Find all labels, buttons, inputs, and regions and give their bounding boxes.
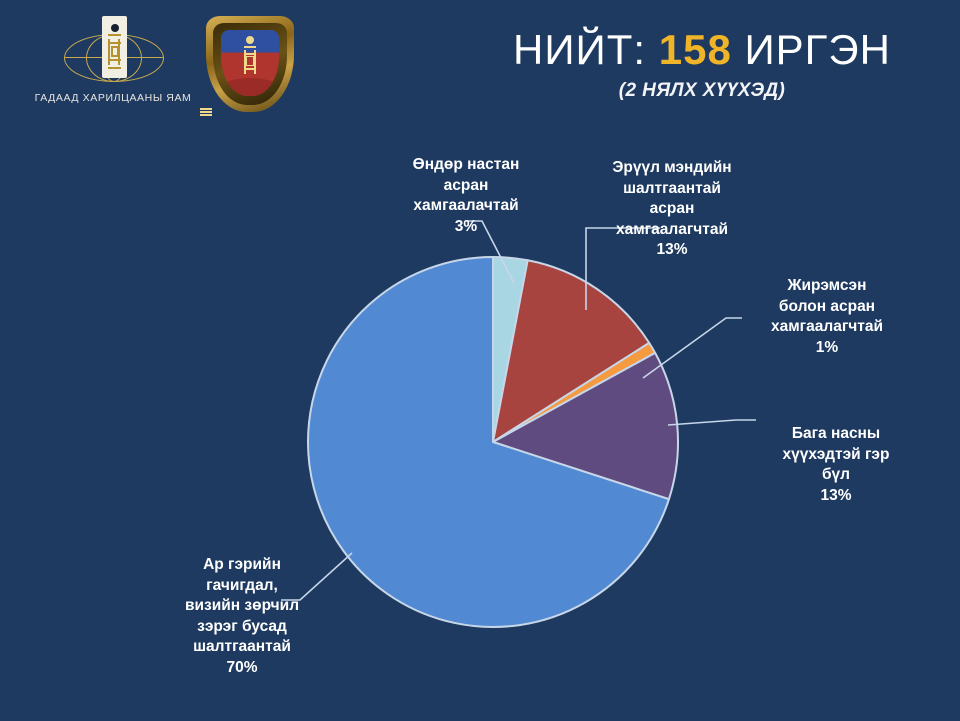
pie-label-other-percent: 70%: [128, 658, 356, 678]
pie-label-elderly-percent: 3%: [368, 217, 564, 237]
slide-canvas: ГАДААД ХАРИЛЦААНЫ ЯАМ НИЙТ: 158 ИРГЭН (2…: [0, 0, 960, 721]
pie-slice-group: [308, 257, 678, 627]
shield-steps-icon: [200, 107, 212, 116]
pie-label-other-text: Ар гэрийн гачигдал, визийн зөрчил зэрэг …: [185, 556, 299, 655]
pie-label-children-text: Бага насны хүүхэдтэй гэр бүл: [783, 425, 890, 483]
pie-label-other: Ар гэрийн гачигдал, визийн зөрчил зэрэг …: [128, 535, 356, 699]
pie-label-pregnant-text: Жирэмсэн болон асран хамгаалагчтай: [771, 277, 883, 335]
pie-label-elderly-text: Өндөр настан асран хамгаалачтай: [413, 156, 520, 214]
shield-soyombo-icon: [244, 36, 256, 86]
pie-label-children-percent: 13%: [736, 486, 936, 506]
pie-label-health-text: Эрүүл мэндийн шалтгаантай асран хамгаала…: [612, 159, 731, 237]
pie-label-pregnant-percent: 1%: [722, 338, 932, 358]
pie-label-elderly: Өндөр настан асран хамгаалачтай 3%: [368, 135, 564, 258]
pie-label-children: Бага насны хүүхэдтэй гэр бүл 13%: [736, 404, 936, 527]
pie-label-pregnant: Жирэмсэн болон асран хамгаалагчтай 1%: [722, 256, 932, 379]
